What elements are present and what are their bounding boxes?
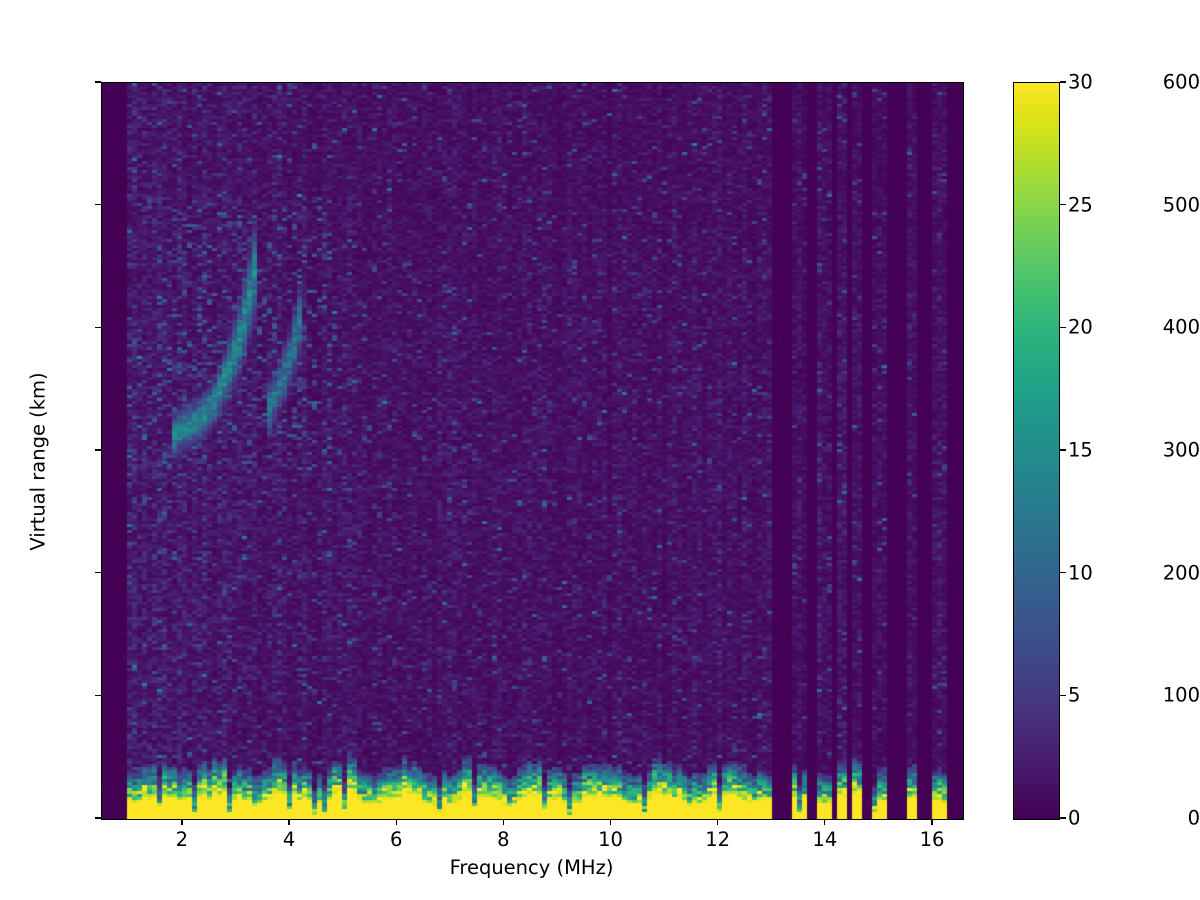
- colorbar-tick-mark: [1060, 327, 1066, 328]
- y-axis-tick-mark: [95, 449, 101, 450]
- colorbar-tick-mark: [1060, 572, 1066, 573]
- x-axis-tick-mark: [931, 819, 932, 825]
- x-axis-tick-mark: [503, 819, 504, 825]
- colorbar-tick-label: 15: [1068, 439, 1093, 462]
- ionogram-heatmap-canvas[interactable]: [102, 83, 963, 819]
- y-axis-label: Virtual range (km): [27, 332, 50, 592]
- x-axis-tick-label: 10: [571, 828, 651, 851]
- y-axis-tick-label: 0: [1114, 807, 1200, 830]
- x-axis-tick-mark: [181, 819, 182, 825]
- x-axis-tick-mark: [610, 819, 611, 825]
- colorbar-tick-label: 0: [1068, 807, 1080, 830]
- colorbar-tick-mark: [1060, 449, 1066, 450]
- colorbar-tick-label: 10: [1068, 561, 1093, 584]
- colorbar[interactable]: [1013, 82, 1060, 820]
- y-axis-tick-mark: [95, 81, 101, 82]
- x-axis-tick-label: 6: [356, 828, 436, 851]
- x-axis-tick-label: 2: [142, 828, 222, 851]
- y-axis-tick-label: 300: [1114, 439, 1200, 462]
- y-axis-tick-label: 100: [1114, 684, 1200, 707]
- colorbar-tick-mark: [1060, 81, 1066, 82]
- x-axis-tick-mark: [288, 819, 289, 825]
- x-axis-tick-label: 12: [678, 828, 758, 851]
- y-axis-tick-label: 200: [1114, 561, 1200, 584]
- colorbar-tick-label: 5: [1068, 684, 1080, 707]
- colorbar-gradient-canvas: [1014, 83, 1059, 819]
- y-axis-tick-mark: [95, 695, 101, 696]
- colorbar-tick-label: 30: [1068, 71, 1093, 94]
- y-axis-tick-label: 600: [1114, 71, 1200, 94]
- y-axis-tick-label: 400: [1114, 316, 1200, 339]
- ionogram-figure: IRF Kiruna Ionosonde KI167 2025-12-29 07…: [0, 0, 1200, 900]
- ionogram-plot-area[interactable]: [101, 82, 964, 820]
- colorbar-tick-label: 20: [1068, 316, 1093, 339]
- x-axis-label: Frequency (MHz): [101, 856, 962, 879]
- x-axis-tick-mark: [717, 819, 718, 825]
- colorbar-tick-mark: [1060, 204, 1066, 205]
- y-axis-tick-label: 500: [1114, 193, 1200, 216]
- colorbar-tick-label: 25: [1068, 193, 1093, 216]
- x-axis-tick-label: 8: [463, 828, 543, 851]
- colorbar-tick-mark: [1060, 817, 1066, 818]
- y-axis-tick-mark: [95, 817, 101, 818]
- x-axis-tick-mark: [396, 819, 397, 825]
- y-axis-tick-mark: [95, 204, 101, 205]
- x-axis-tick-mark: [824, 819, 825, 825]
- x-axis-tick-label: 14: [785, 828, 865, 851]
- colorbar-tick-mark: [1060, 695, 1066, 696]
- y-axis-tick-mark: [95, 572, 101, 573]
- y-axis-tick-mark: [95, 327, 101, 328]
- x-axis-tick-label: 16: [892, 828, 972, 851]
- x-axis-tick-label: 4: [249, 828, 329, 851]
